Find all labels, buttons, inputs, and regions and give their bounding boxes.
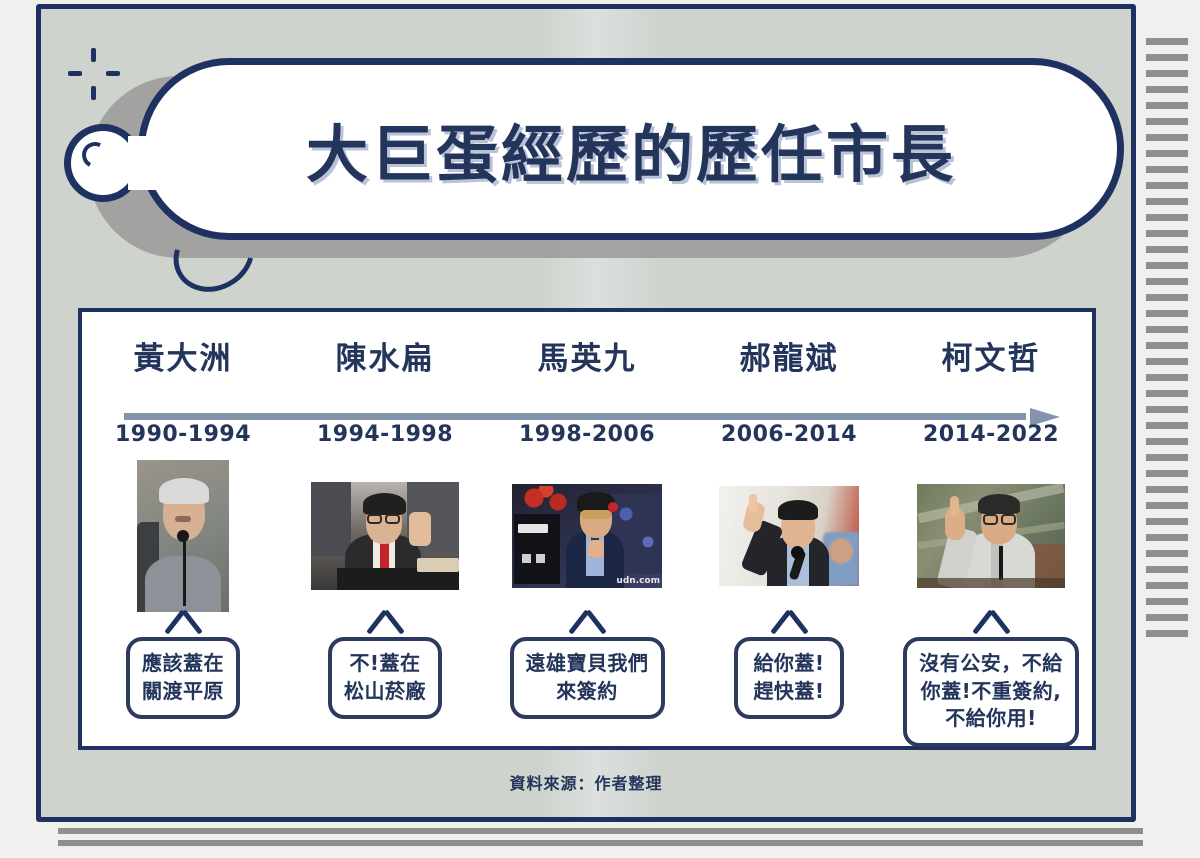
mayor-photo-slot [917,461,1065,611]
quote-connector-tail [564,611,610,637]
mayor-photo [137,460,229,612]
quote-connector-tail [766,611,812,637]
mayor-name: 馬英九 [538,344,637,375]
mayor-quote-bubble: 沒有公安，不給 你蓋!不重簽約, 不給你用! [903,637,1079,747]
title-banner: 大巨蛋經歷的歷任市長 [64,58,1124,258]
mayor-term: 1998-2006 [519,422,655,447]
canvas-shadow-line [58,828,1143,834]
mayor-term: 1990-1994 [115,422,251,447]
stripe-dash [1146,230,1188,237]
stripe-dash [1146,310,1188,317]
mayor-photo-slot [137,461,229,611]
mayor-column: 黃大洲1990-1994 應該蓋在 關渡平原 [82,312,284,747]
stripe-dash [1146,454,1188,461]
mayor-term: 2014-2022 [923,422,1059,447]
stripe-dash [1146,262,1188,269]
stripe-dash [1146,358,1188,365]
mayor-quote-bubble: 應該蓋在 關渡平原 [126,637,240,719]
stripe-dash [1146,326,1188,333]
stripe-dash [1146,246,1188,253]
stripe-dash [1146,470,1188,477]
stripe-dash [1146,486,1188,493]
stripe-dash [1146,86,1188,93]
mayor-name: 黃大洲 [134,344,233,375]
stripe-dash [1146,38,1188,45]
stripe-dash [1146,102,1188,109]
quote-connector-tail [362,611,408,637]
mayor-term: 1994-1998 [317,422,453,447]
stripe-dash [1146,582,1188,589]
stripe-dash [1146,534,1188,541]
title-bubble: 大巨蛋經歷的歷任市長 [138,58,1124,240]
source-note: 資料來源：作者整理 [0,770,1172,794]
mayor-quote-bubble: 遠雄寶貝我們 來簽約 [510,637,665,719]
stripe-dash [1146,150,1188,157]
stripe-dash [1146,214,1188,221]
mayor-column: 柯文哲2014-2022 沒有公安，不給 你蓋!不重簽約, 不給你用! [890,312,1092,747]
stripe-dash [1146,70,1188,77]
stripe-dash [1146,390,1188,397]
canvas-shadow-line [58,840,1143,846]
stripe-dash [1146,438,1188,445]
mayor-column: 郝龍斌2006-2014 給你蓋! 趕快蓋! [688,312,890,747]
stripe-dash [1146,550,1188,557]
mayor-photo [917,484,1065,588]
stripe-dash [1146,502,1188,509]
quote-connector-tail [968,611,1014,637]
stripe-dash [1146,566,1188,573]
quote-connector-tail [160,611,206,637]
stripe-dash [1146,118,1188,125]
stripe-dash [1146,182,1188,189]
stripe-dash [1146,294,1188,301]
title-bubble-merge [128,136,162,190]
mayor-photo-slot [719,461,859,611]
mayor-photo-slot [311,461,459,611]
page-title: 大巨蛋經歷的歷任市長 [306,104,956,194]
mayor-quote-bubble: 不!蓋在 松山菸廠 [328,637,442,719]
infographic-poster: 大巨蛋經歷的歷任市長 黃大洲1990-1994 應該蓋在 關渡平原陳水扁1994… [0,0,1200,858]
mayor-quote-bubble: 給你蓋! 趕快蓋! [734,637,844,719]
stripe-dash [1146,198,1188,205]
mayors-columns: 黃大洲1990-1994 應該蓋在 關渡平原陳水扁1994-1998 不!蓋在 … [82,312,1092,746]
edge-stripe-decoration [1146,38,1188,858]
stripe-dash [1146,278,1188,285]
stripe-dash [1146,422,1188,429]
stripe-dash [1146,166,1188,173]
mayor-column: 陳水扁1994-1998 不!蓋在 松山菸廠 [284,312,486,747]
mayor-name: 陳水扁 [336,344,435,375]
stripe-dash [1146,598,1188,605]
stripe-dash [1146,518,1188,525]
stripe-dash [1146,630,1188,637]
mayors-panel: 黃大洲1990-1994 應該蓋在 關渡平原陳水扁1994-1998 不!蓋在 … [78,308,1096,750]
stripe-dash [1146,614,1188,621]
stripe-dash [1146,342,1188,349]
stripe-dash [1146,54,1188,61]
mayor-column: 馬英九1998-2006 udn.com 遠雄寶貝我們 來簽約 [486,312,688,747]
mayor-name: 柯文哲 [942,344,1041,375]
mayor-name: 郝龍斌 [740,344,839,375]
stripe-dash [1146,374,1188,381]
stripe-dash [1146,134,1188,141]
mayor-photo [719,486,859,586]
mayor-photo-slot: udn.com [512,461,662,611]
mayor-photo: udn.com [512,484,662,588]
mayor-term: 2006-2014 [721,422,857,447]
mayor-photo [311,482,459,590]
stripe-dash [1146,406,1188,413]
